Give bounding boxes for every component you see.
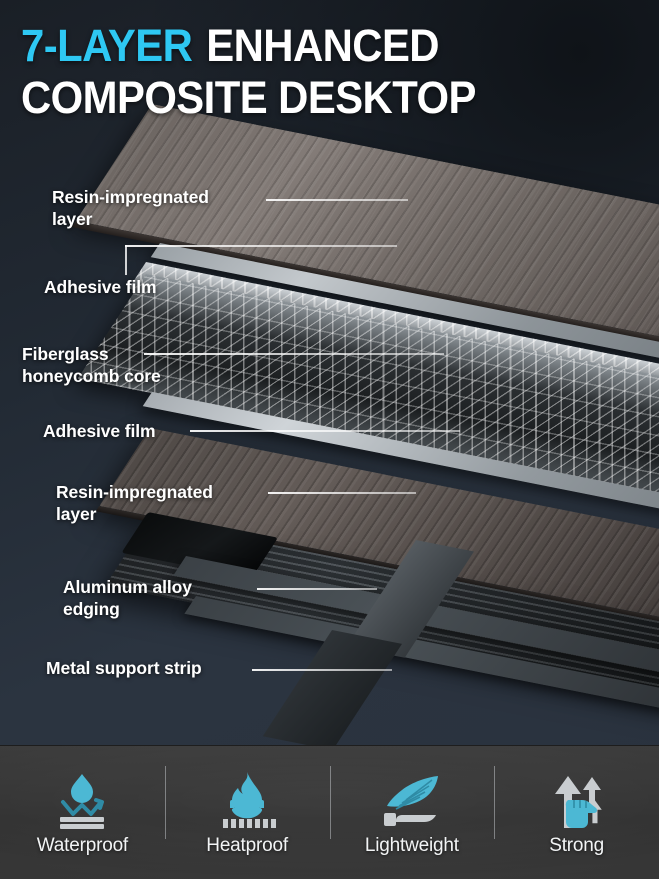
feature-bar: Waterproof Heatproof [0, 745, 659, 879]
feature-waterproof-label: Waterproof [37, 835, 128, 857]
layer-metal-support-strip [263, 630, 402, 750]
callout-adhesive-top: Adhesive film [44, 276, 274, 298]
feature-lightweight-label: Lightweight [365, 835, 459, 857]
feature-heatproof-label: Heatproof [206, 835, 288, 857]
callout-resin-top: Resin-impregnated layer [52, 186, 262, 231]
product-infographic: 7-LAYERENHANCED COMPOSITE DESKTOP Resin-… [0, 0, 659, 879]
callout-aluminum-label: Aluminum alloy edging [63, 576, 283, 621]
feature-strong-label: Strong [549, 835, 604, 857]
callout-resin-bottom-label: Resin-impregnated layer [56, 481, 276, 526]
callout-aluminum: Aluminum alloy edging [63, 576, 283, 621]
callout-honeycomb: Fiberglass honeycomb core [22, 343, 252, 388]
leader-line-resin-top [266, 199, 408, 201]
feature-waterproof: Waterproof [0, 746, 165, 879]
title-line-2: COMPOSITE DESKTOP [21, 76, 542, 120]
title-highlight: 7-LAYER [21, 20, 192, 71]
callout-honeycomb-label: Fiberglass honeycomb core [22, 343, 252, 388]
strong-icon [544, 769, 610, 831]
page-title: 7-LAYERENHANCED COMPOSITE DESKTOP [21, 24, 581, 120]
feature-heatproof: Heatproof [165, 746, 330, 879]
feature-strong: Strong [494, 746, 659, 879]
callout-resin-top-label: Resin-impregnated layer [52, 186, 262, 231]
feature-lightweight: Lightweight [330, 746, 495, 879]
callout-adhesive-top-label: Adhesive film [44, 276, 274, 298]
title-line-1: 7-LAYERENHANCED [21, 24, 542, 68]
waterproof-icon [49, 769, 115, 831]
title-line-1-rest: ENHANCED [206, 20, 439, 71]
leader-line-resin-bottom [268, 492, 416, 494]
leader-line-adhesive-top-drop [125, 245, 127, 275]
callout-adhesive-bottom-label: Adhesive film [43, 420, 273, 442]
leader-line-adhesive-top [125, 245, 397, 247]
lightweight-icon [376, 769, 448, 831]
heatproof-icon [214, 769, 280, 831]
callout-resin-bottom: Resin-impregnated layer [56, 481, 276, 526]
callout-support-strip: Metal support strip [46, 657, 306, 679]
callout-adhesive-bottom: Adhesive film [43, 420, 273, 442]
callout-support-strip-label: Metal support strip [46, 657, 306, 679]
